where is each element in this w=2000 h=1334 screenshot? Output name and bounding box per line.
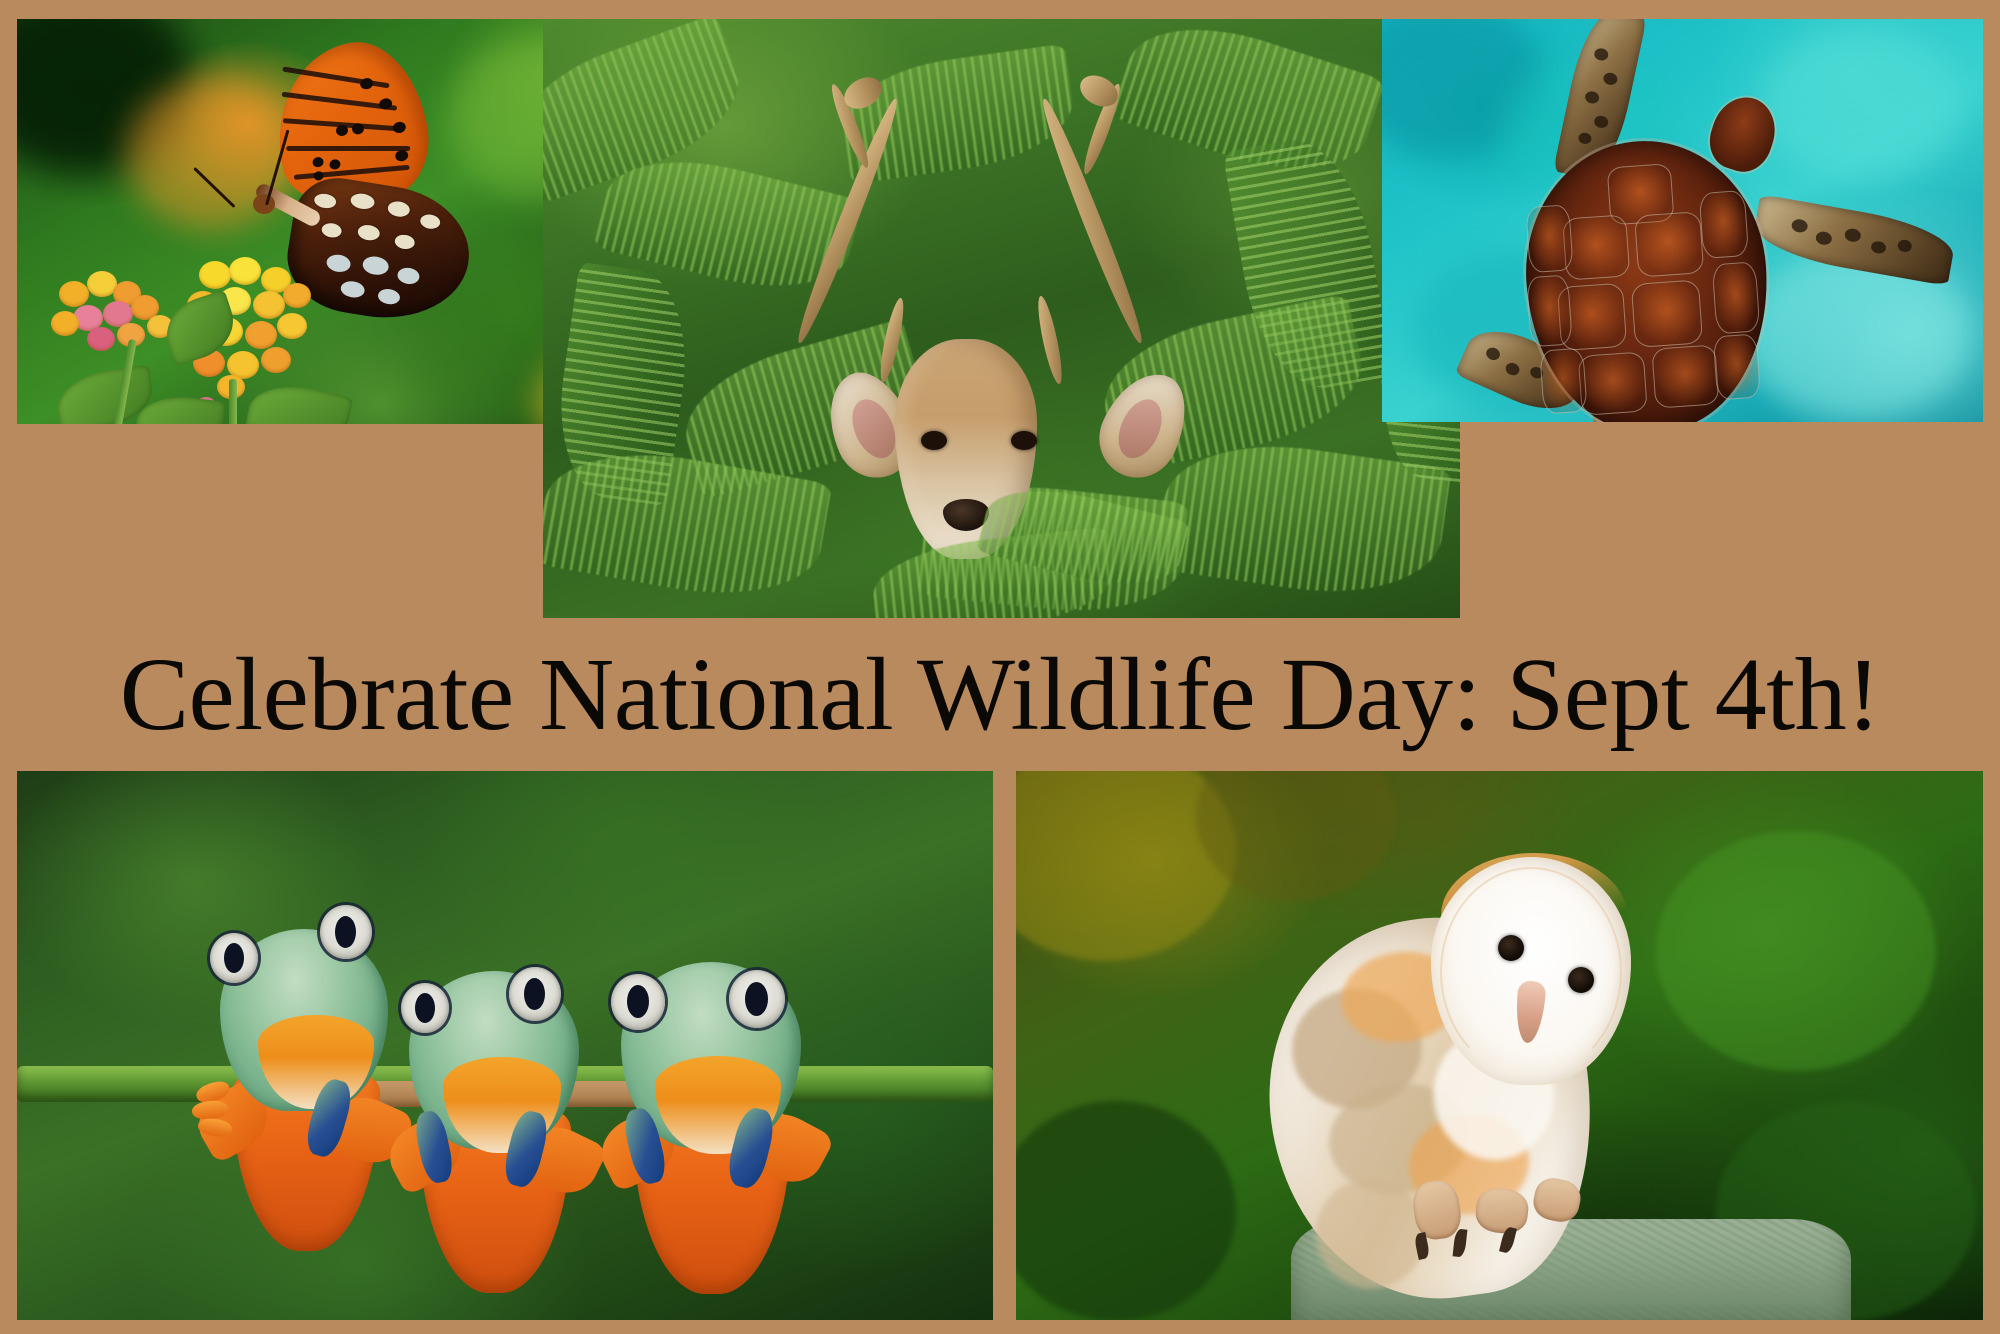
deer-antler-right-branch: [1034, 295, 1066, 386]
owl-eye-left: [1498, 935, 1524, 961]
deer-eye-right: [1011, 431, 1037, 450]
wildlife-day-poster: Celebrate National Wildlife Day: Sept 4t…: [0, 0, 2000, 1334]
photo-frogs: [17, 771, 993, 1320]
page-title: Celebrate National Wildlife Day: Sept 4t…: [0, 640, 2000, 750]
owl-facial-disc: [1440, 867, 1622, 1077]
photo-butterfly: [17, 19, 624, 424]
photo-deer: [543, 19, 1460, 618]
butterfly-head: [253, 194, 275, 214]
deer-eye-left: [921, 431, 947, 450]
stem: [229, 379, 237, 424]
photo-owl: [1016, 771, 1983, 1320]
owl-eye-right: [1568, 967, 1594, 993]
photo-turtle: [1382, 19, 1983, 422]
leaf: [245, 377, 354, 424]
